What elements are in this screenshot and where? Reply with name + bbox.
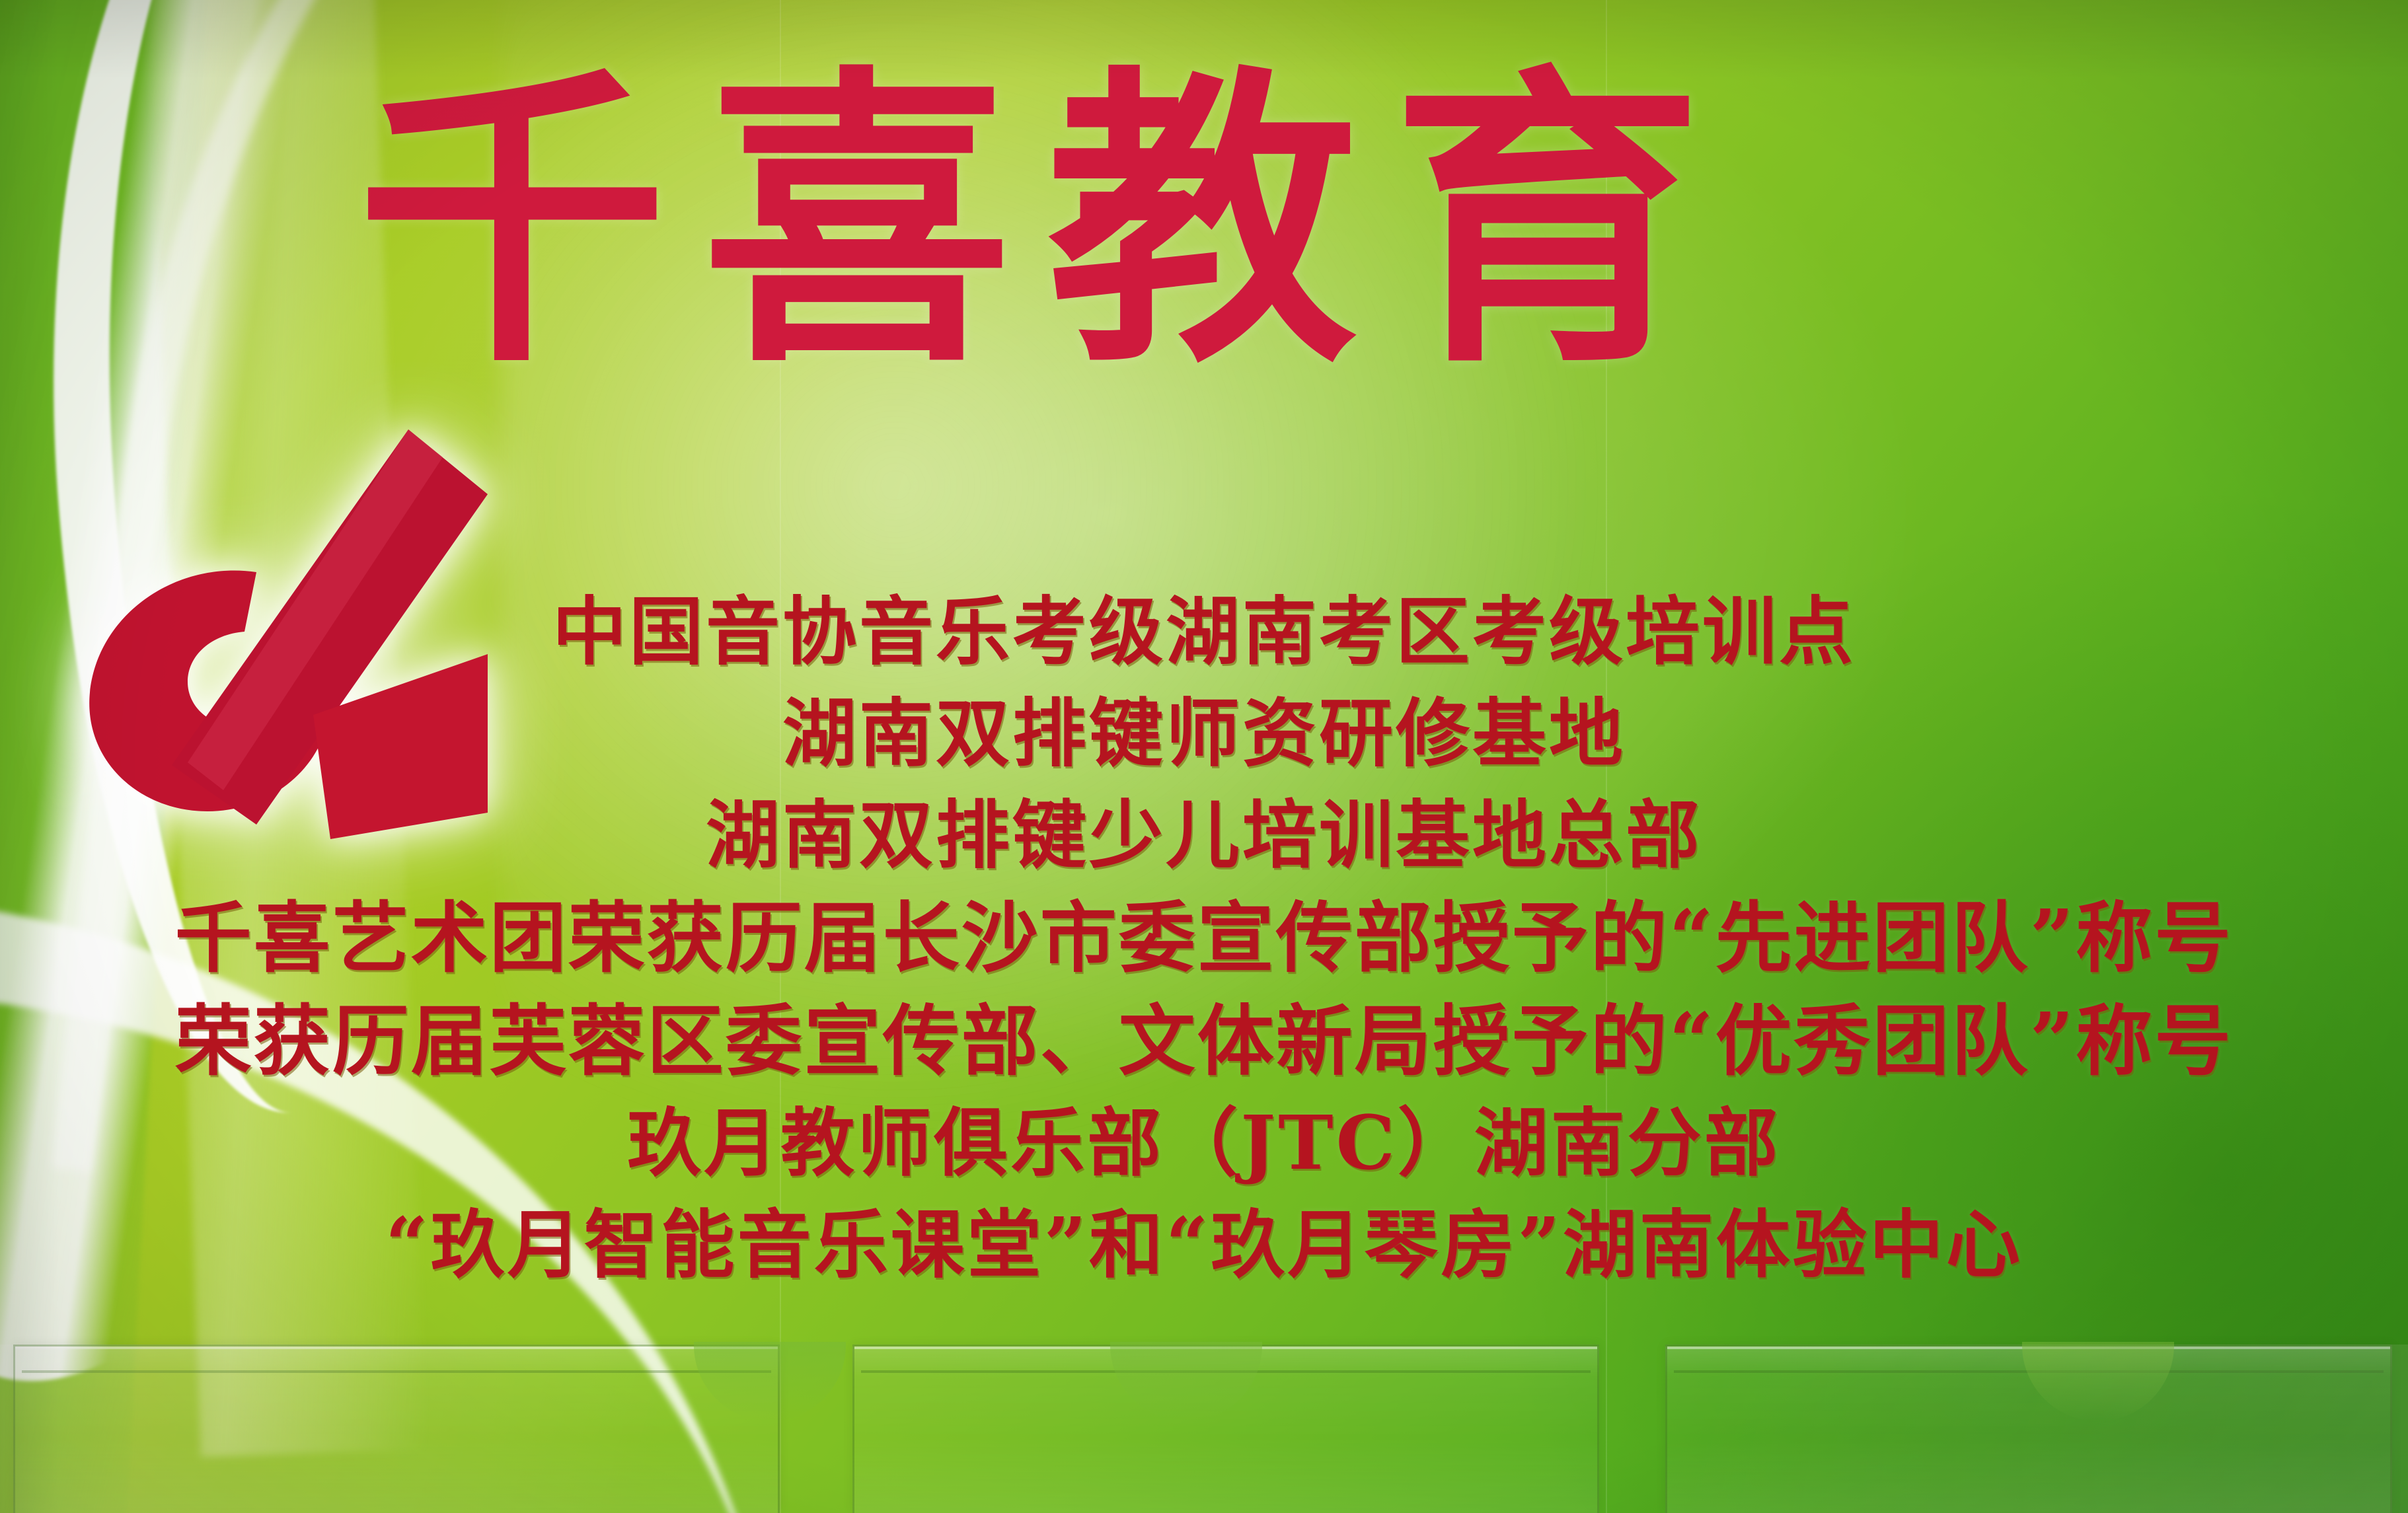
credentials-list: 中国音协音乐考级湖南考区考级培训点 湖南双排键师资研修基地 湖南双排键少儿培训基… (0, 581, 2408, 1296)
brochure-holder-row (0, 1345, 2408, 1513)
credential-line: 中国音协音乐考级湖南考区考级培训点 (0, 581, 2408, 683)
credential-line: 千喜艺术团荣获历届长沙市委宣传部授予的“先进团队”称号 (0, 887, 2408, 990)
credential-line: 玖月教师俱乐部（JTC）湖南分部 (0, 1093, 2408, 1195)
signboard-panel: 千喜教育 中国音协音乐考级湖南考区考级培训点 湖南双排键师资研修基地 湖南双排键… (0, 0, 2408, 1513)
credential-line: 荣获历届芙蓉区委宣传部、文体新局授予的“优秀团队”称号 (0, 990, 2408, 1093)
credential-line: 湖南双排键师资研修基地 (0, 683, 2408, 785)
credential-line: “玖月智能音乐课堂”和“玖月琴房”湖南体验中心 (0, 1195, 2408, 1296)
page-title: 千喜教育 (357, 36, 2088, 433)
brochure-pocket[interactable] (13, 1345, 780, 1513)
credential-line: 湖南双排键少儿培训基地总部 (0, 785, 2408, 887)
